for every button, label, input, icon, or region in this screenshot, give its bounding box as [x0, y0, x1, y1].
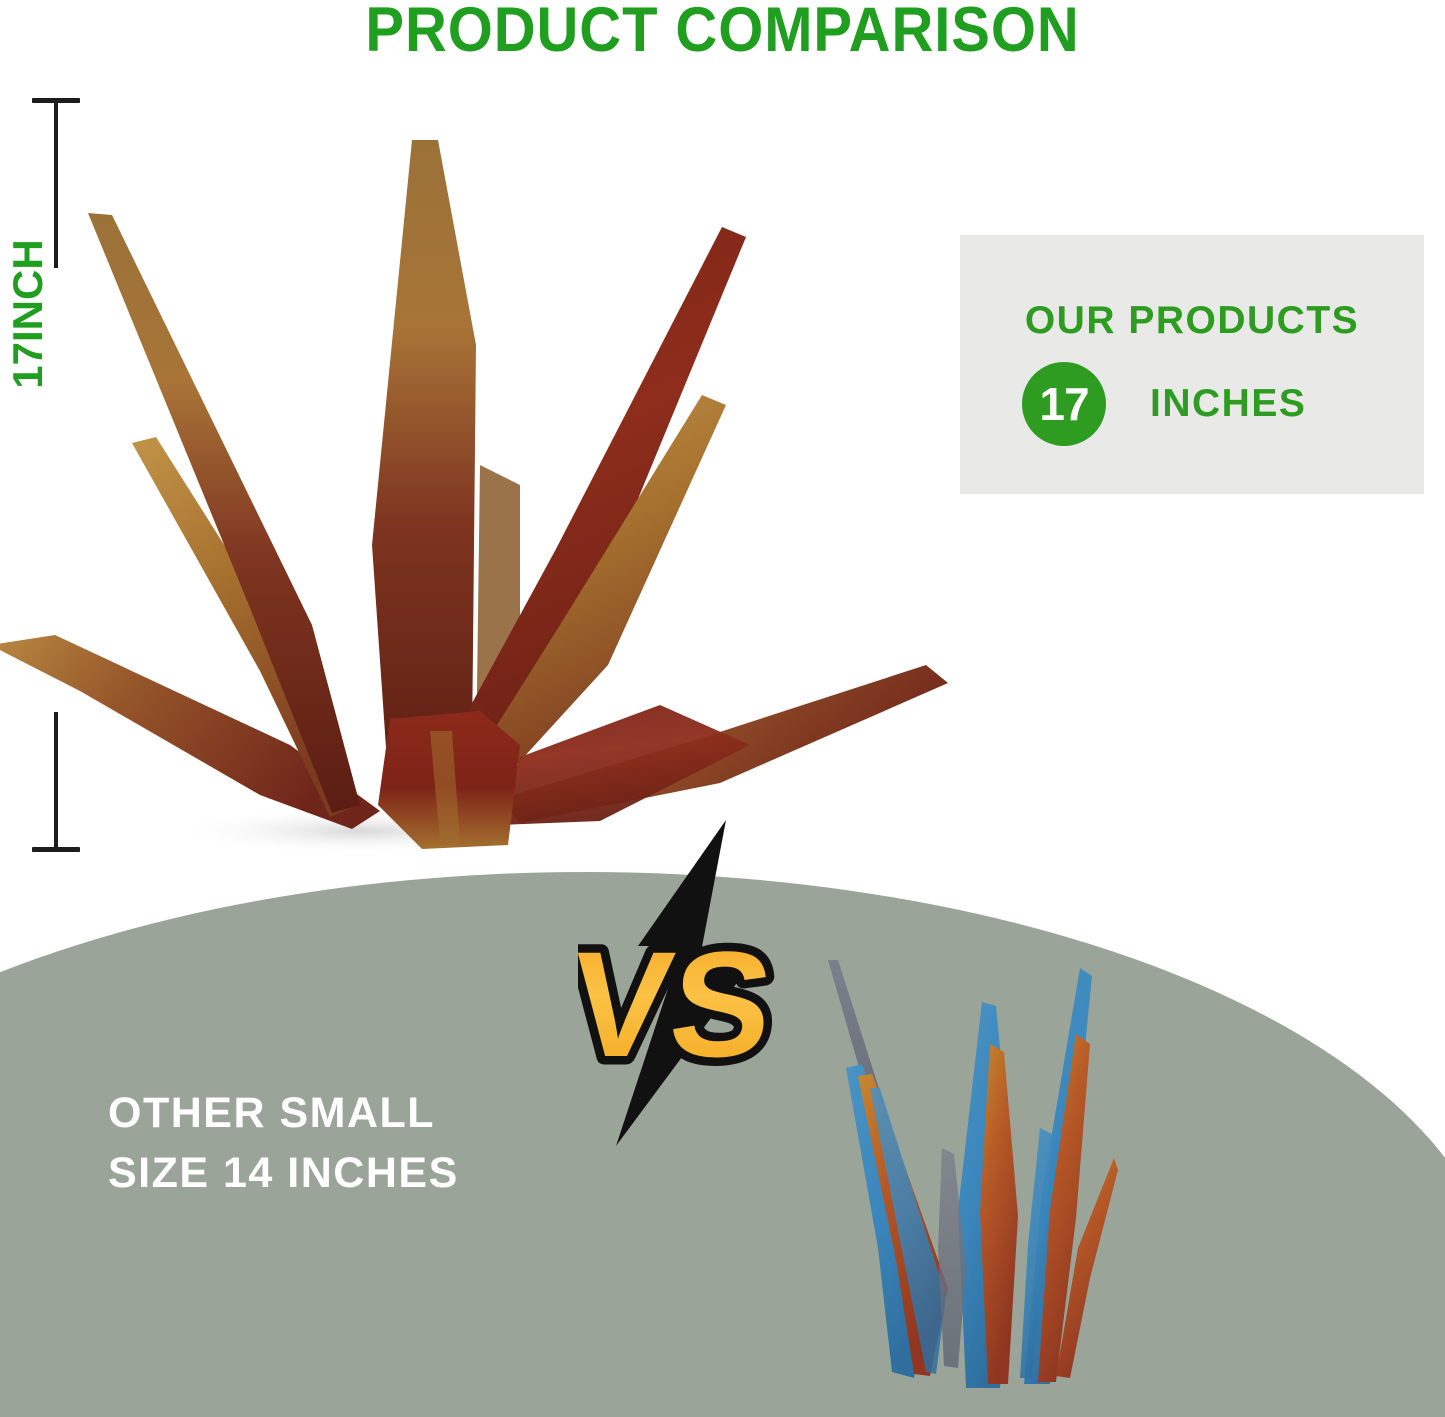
product-comparison-infographic: PRODUCT COMPARISON 17INCH: [0, 0, 1445, 1417]
versus-badge: VS VS: [578, 818, 804, 1148]
callout-heading: OUR PRODUCTS: [960, 299, 1424, 343]
our-product-image: [0, 105, 970, 865]
agave-blade: [372, 140, 476, 805]
svg-text:VS: VS: [578, 920, 780, 1088]
callout-size-row: 17 INCHES: [960, 362, 1424, 446]
page-title: PRODUCT COMPARISON: [58, 0, 1387, 66]
our-product-size-callout: OUR PRODUCTS 17 INCHES: [960, 235, 1424, 494]
size-badge-value: 17: [1039, 381, 1088, 427]
competitor-label-line-1: OTHER SMALL: [108, 1083, 459, 1143]
versus-wordmark: VS VS: [578, 920, 780, 1088]
competitor-product-image: [818, 948, 1118, 1398]
competitor-label-line-2: SIZE 14 INCHES: [108, 1143, 459, 1203]
size-badge: 17: [1022, 362, 1106, 446]
callout-unit-label: INCHES: [1150, 382, 1306, 426]
competitor-size-label: OTHER SMALL SIZE 14 INCHES: [108, 1083, 459, 1203]
